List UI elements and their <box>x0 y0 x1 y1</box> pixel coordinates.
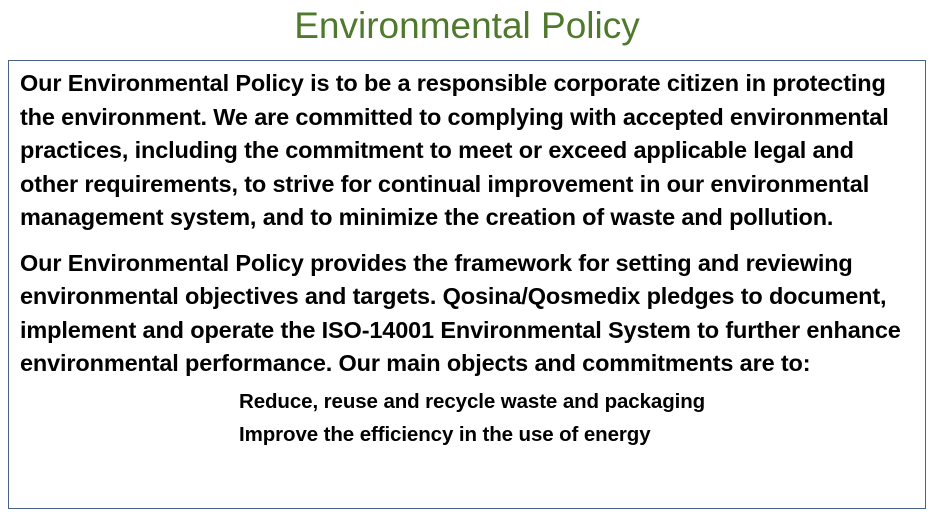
list-item: Improve the efficiency in the use of ene… <box>239 418 915 451</box>
policy-paragraph-2: Our Environmental Policy provides the fr… <box>20 247 915 381</box>
policy-paragraph-1: Our Environmental Policy is to be a resp… <box>20 67 915 235</box>
policy-content-box: Our Environmental Policy is to be a resp… <box>8 60 926 509</box>
commitments-list: Reduce, reuse and recycle waste and pack… <box>20 385 915 451</box>
list-item: Reduce, reuse and recycle waste and pack… <box>239 385 915 418</box>
slide: Environmental Policy Our Environmental P… <box>0 0 934 525</box>
page-title: Environmental Policy <box>0 0 934 56</box>
